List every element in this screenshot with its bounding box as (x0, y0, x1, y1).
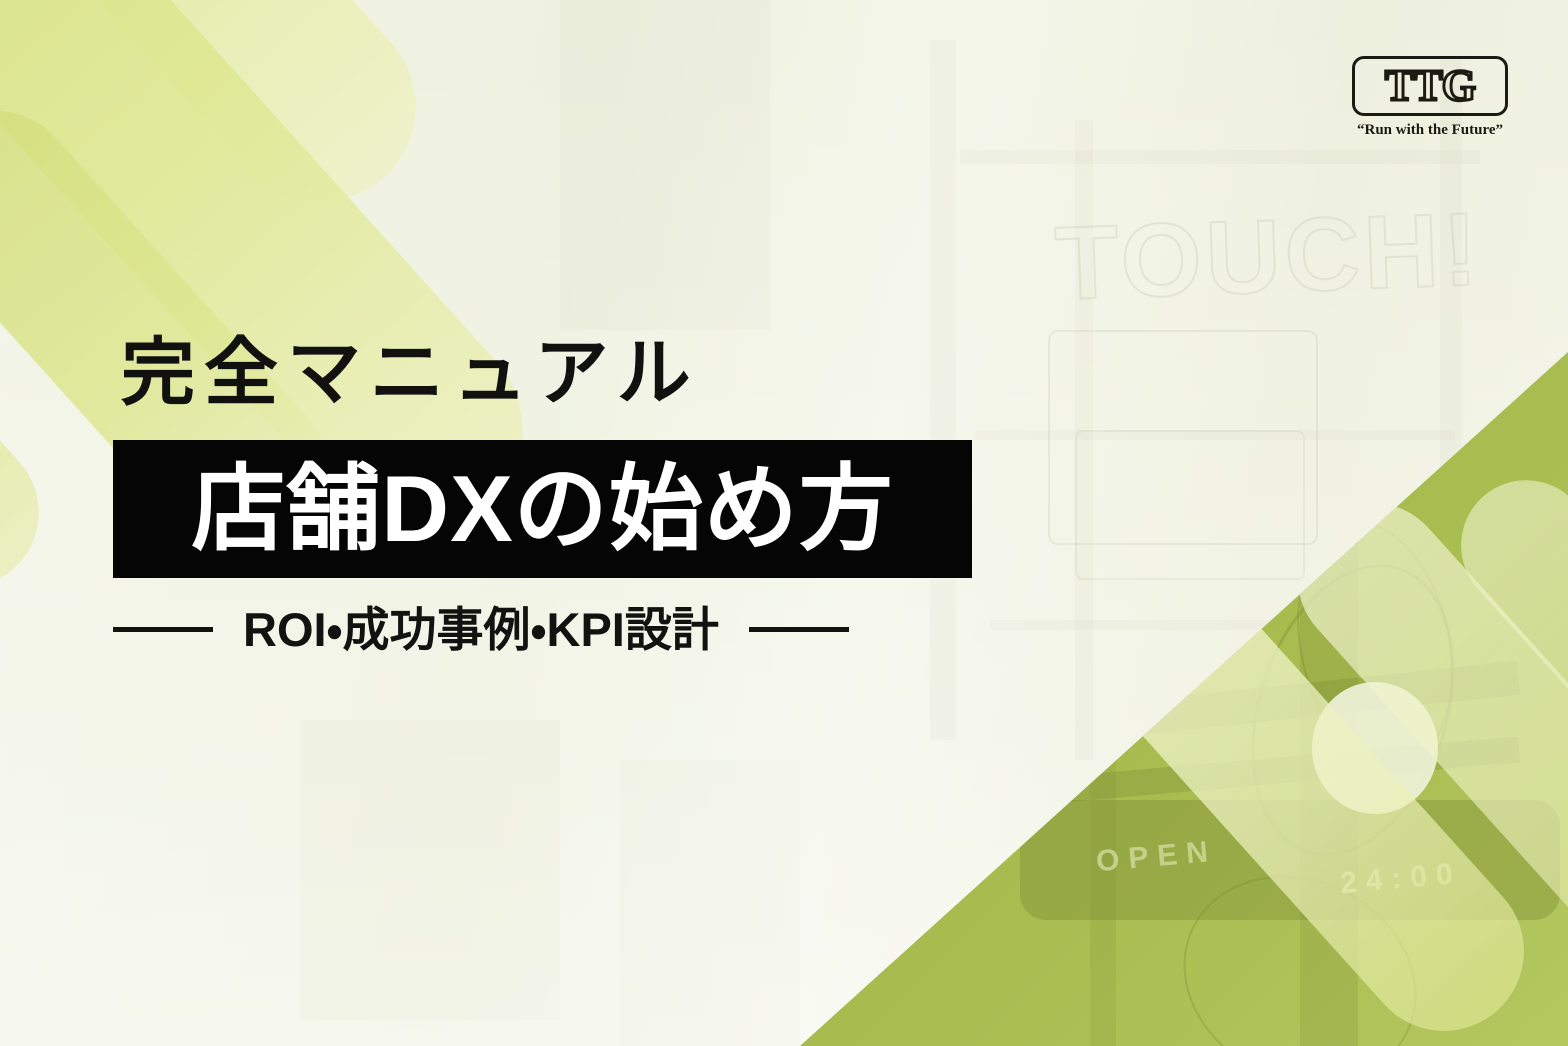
logo-frame-icon: TTG (1352, 56, 1508, 116)
hero-subtitle: ROI・成功事例・KPI設計 (243, 606, 719, 653)
rule-right (749, 627, 849, 632)
rule-left (113, 627, 213, 632)
photo-ghost-text: TOUCH! (1053, 191, 1483, 325)
hero-title: 店舗DXの始め方 (191, 462, 894, 556)
hero-title-band: 店舗DXの始め方 (113, 440, 972, 578)
logo-letters: TTG (1385, 64, 1475, 108)
photo-kiosk-outline (1075, 430, 1305, 580)
logo-tagline: “Run with the Future” (1346, 122, 1514, 139)
photo-block-shape (620, 760, 800, 1046)
thumbnail-canvas: TOUCH! OPEN 24:00 TTG “Run with the Futu… (0, 0, 1568, 1046)
hero-subtitle-row: ROI・成功事例・KPI設計 (113, 606, 925, 653)
photo-block-shape (300, 720, 560, 1020)
photo-block-shape (560, 0, 770, 330)
hero-eyebrow: 完全マニュアル (121, 336, 993, 410)
hero-text-block: 完全マニュアル 店舗DXの始め方 ROI・成功事例・KPI設計 (113, 336, 993, 653)
ttg-logo: TTG “Run with the Future” (1346, 52, 1514, 156)
